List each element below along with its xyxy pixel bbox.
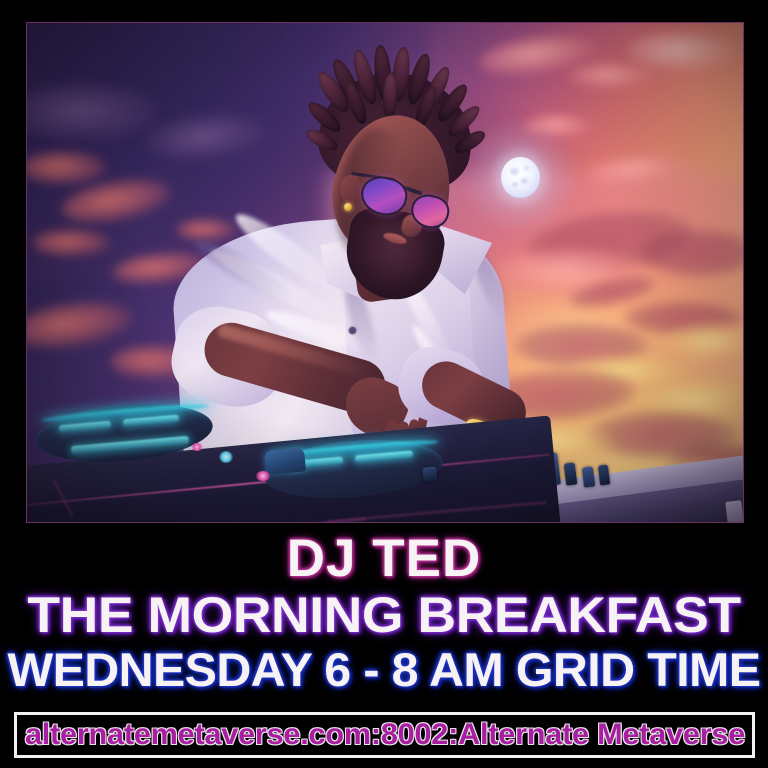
artwork-photo (27, 23, 743, 522)
dj-name-heading: DJ TED (0, 532, 768, 585)
show-title-heading: THE MORNING BREAKFAST (0, 590, 768, 640)
artwork-canvas (27, 23, 743, 522)
url-bar[interactable]: alternatemetaverse.com:8002:Alternate Me… (14, 712, 755, 758)
url-text[interactable]: alternatemetaverse.com:8002:Alternate Me… (24, 718, 744, 752)
earring-icon (344, 203, 352, 211)
led-indicator (191, 443, 203, 451)
led-indicator (255, 471, 271, 481)
schedule-heading: WEDNESDAY 6 - 8 AM GRID TIME (0, 646, 768, 693)
deck-control-unit (264, 447, 306, 474)
event-poster: DJ TED THE MORNING BREAKFAST WEDNESDAY 6… (0, 0, 768, 768)
led-indicator (219, 451, 233, 463)
poster-text-block: DJ TED THE MORNING BREAKFAST WEDNESDAY 6… (0, 524, 768, 768)
